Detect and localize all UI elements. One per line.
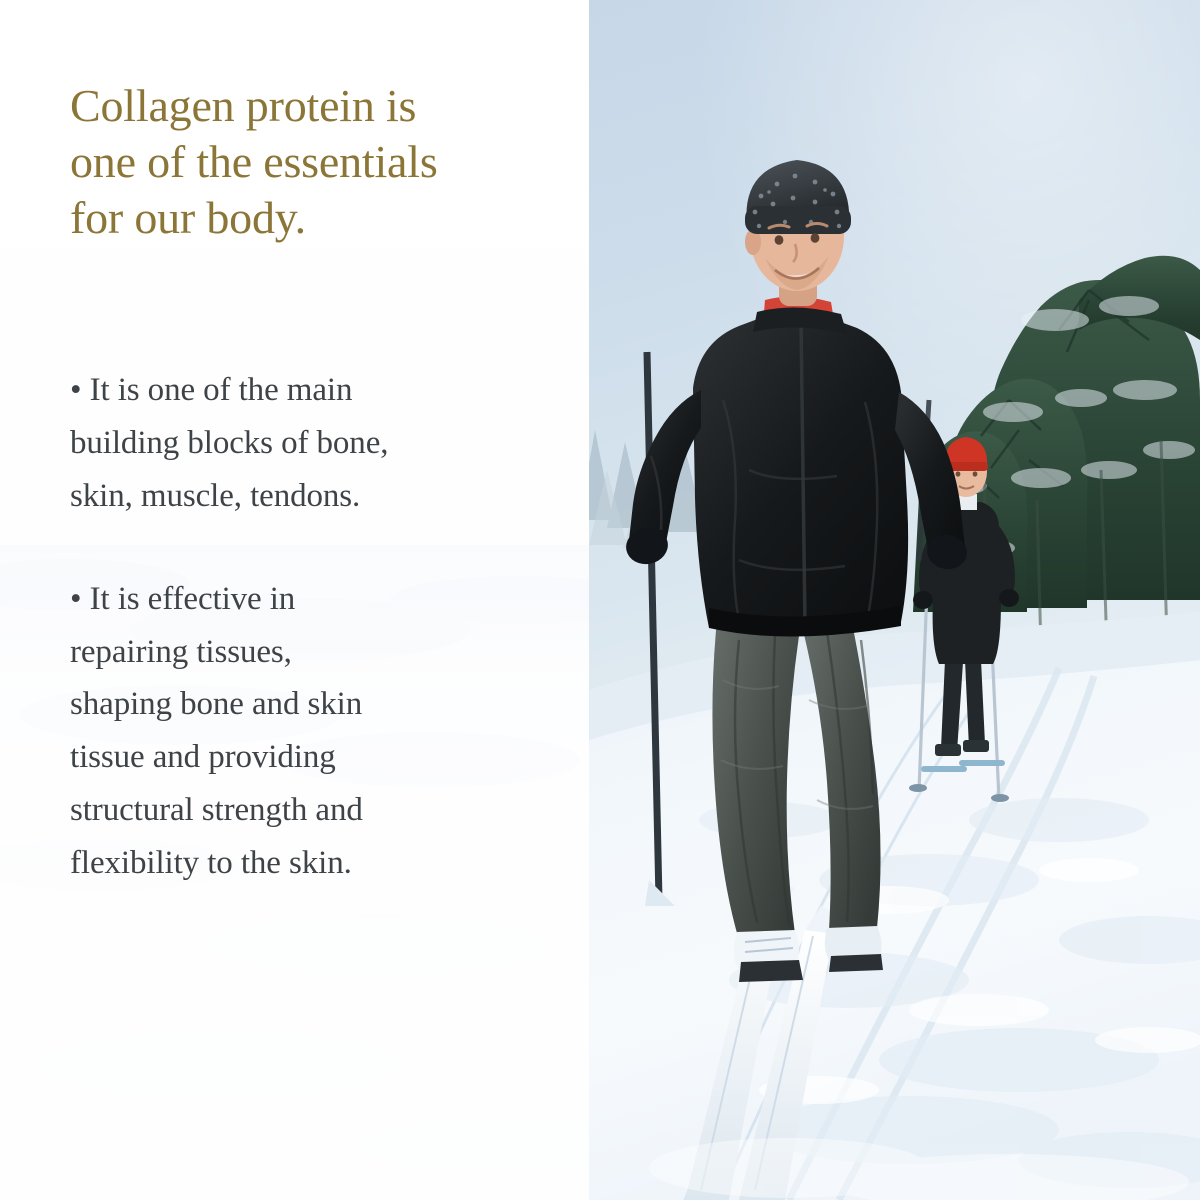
skiers-photograph: [589, 0, 1200, 1200]
benefits-list: • It is one of the main building blocks …: [70, 364, 540, 889]
page-title: Collagen protein is one of the essential…: [70, 78, 549, 246]
benefit-item-2: • It is effective in repairing tissues, …: [70, 573, 540, 890]
poster-canvas: Collagen protein is one of the essential…: [0, 0, 1200, 1200]
text-panel-content: Collagen protein is one of the essential…: [0, 0, 589, 1200]
text-panel: Collagen protein is one of the essential…: [0, 0, 589, 1200]
winter-skiing-scene-icon: [589, 0, 1200, 1200]
benefit-item-1: • It is one of the main building blocks …: [70, 364, 540, 522]
